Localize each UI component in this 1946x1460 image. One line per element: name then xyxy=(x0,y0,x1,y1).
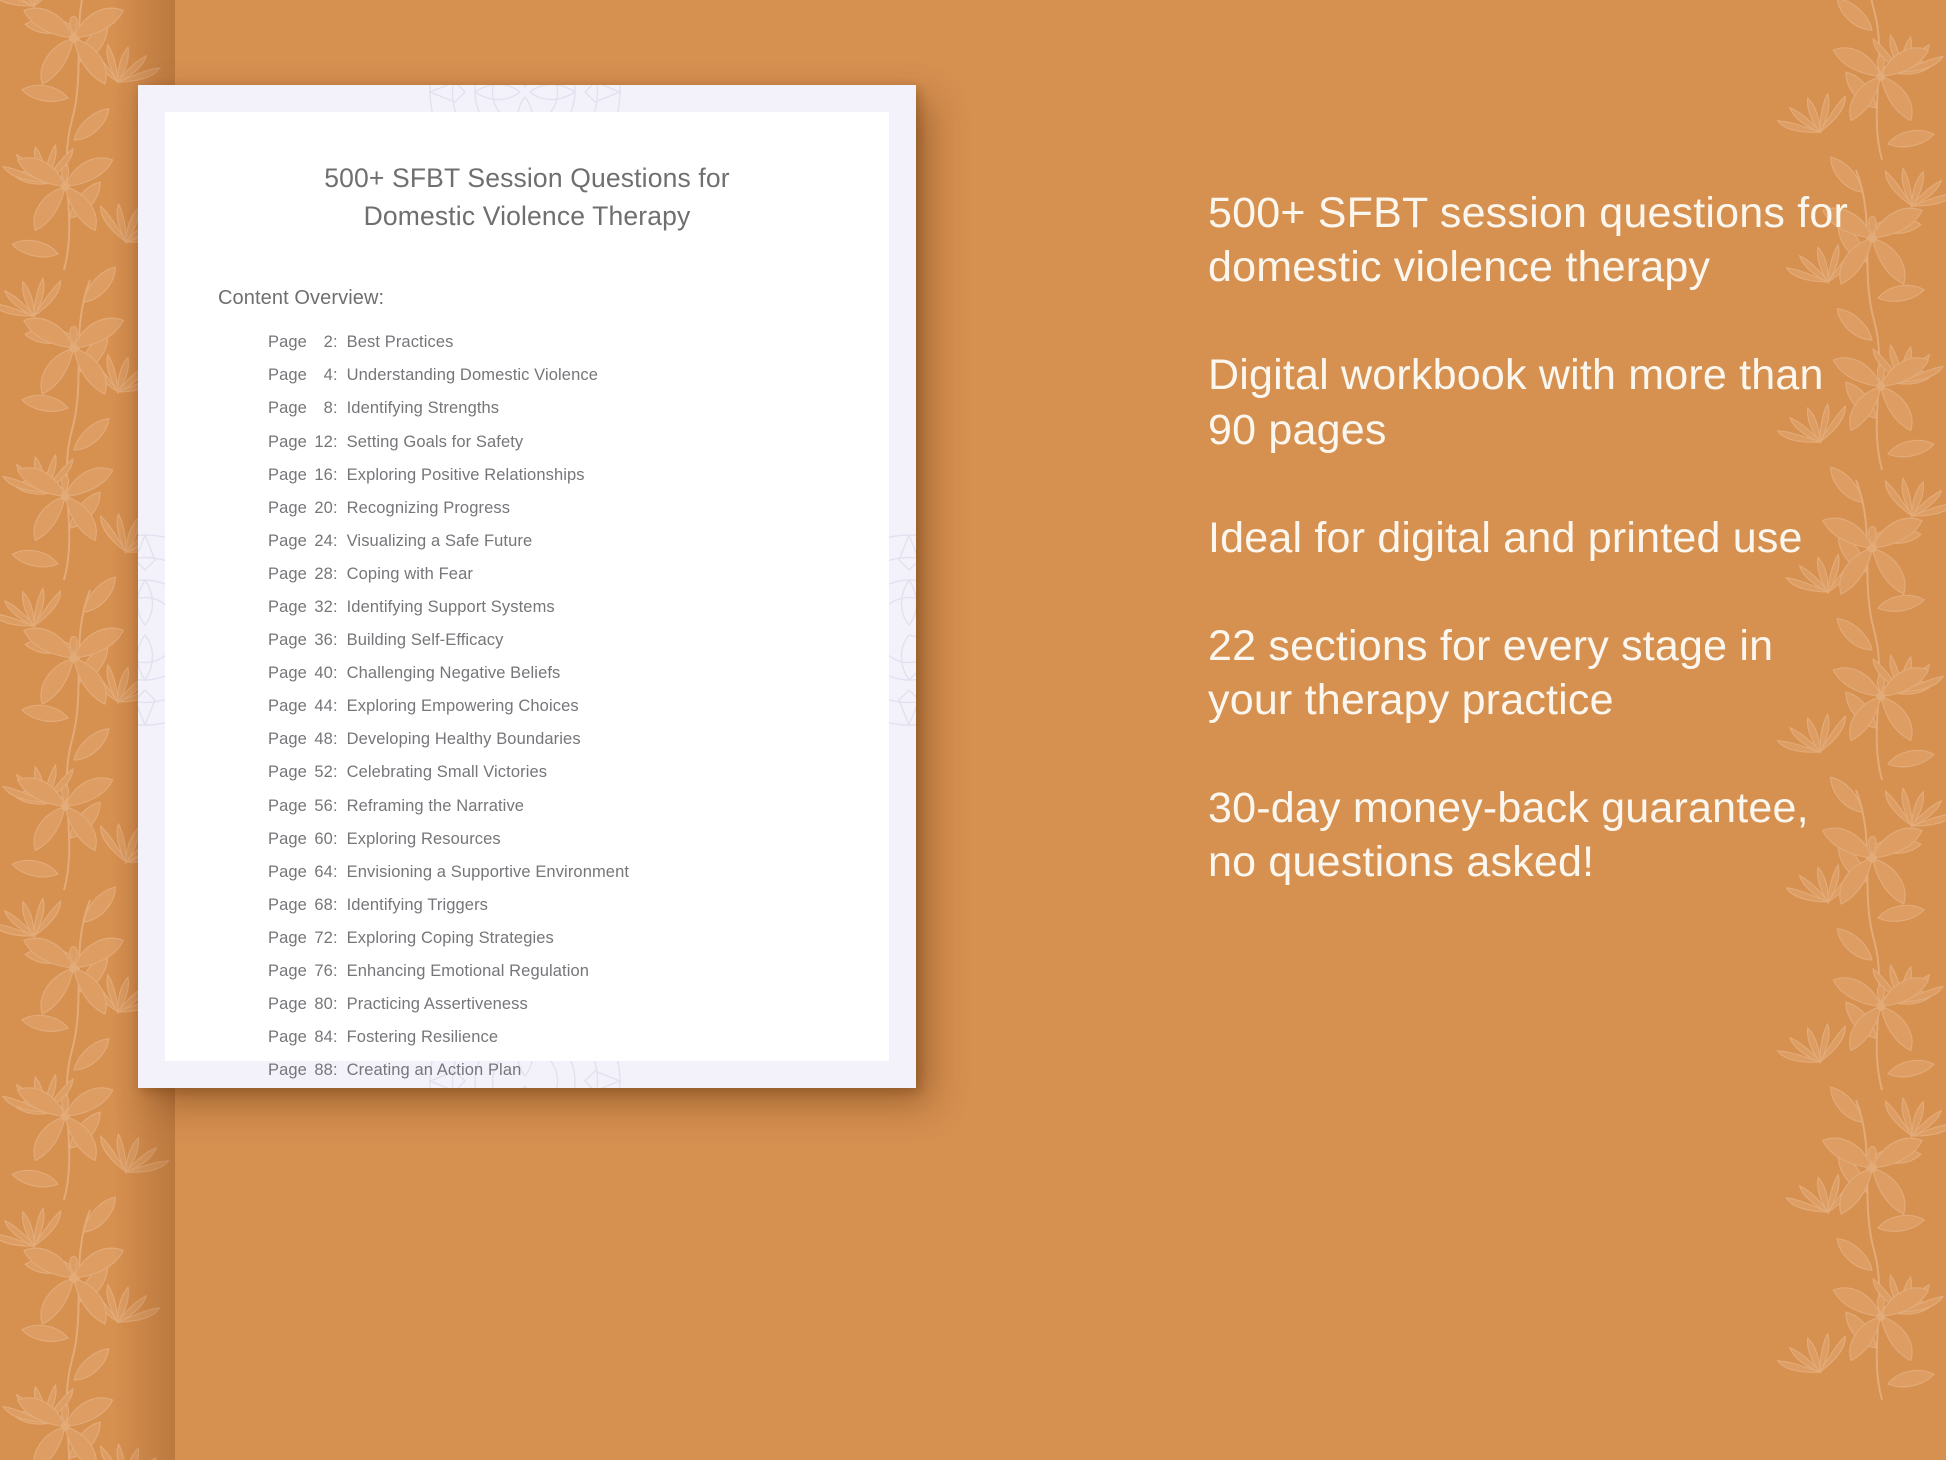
table-of-contents-item: Page4:Understanding Domestic Violence xyxy=(268,367,849,384)
toc-page-number: 36 xyxy=(311,632,333,649)
toc-colon: : xyxy=(333,533,338,550)
marketing-block: Digital workbook with more than 90 pages xyxy=(1208,348,1848,456)
toc-page-word: Page xyxy=(268,632,307,649)
toc-page-word: Page xyxy=(268,930,307,947)
toc-page-number: 12 xyxy=(311,434,333,451)
toc-section-title: Exploring Positive Relationships xyxy=(347,467,585,484)
toc-page-number: 44 xyxy=(311,698,333,715)
marketing-block: 22 sections for every stage in your ther… xyxy=(1208,619,1848,727)
toc-page-word: Page xyxy=(268,400,307,417)
table-of-contents-item: Page40:Challenging Negative Beliefs xyxy=(268,665,849,682)
toc-page-word: Page xyxy=(268,864,307,881)
toc-page-word: Page xyxy=(268,334,307,351)
toc-colon: : xyxy=(333,334,338,351)
toc-page-number: 88 xyxy=(311,1062,333,1079)
toc-page-word: Page xyxy=(268,599,307,616)
toc-colon: : xyxy=(333,632,338,649)
table-of-contents-item: Page48:Developing Healthy Boundaries xyxy=(268,731,849,748)
document-preview-card: 500+ SFBT Session Questions for Domestic… xyxy=(138,85,916,1088)
toc-colon: : xyxy=(333,864,338,881)
table-of-contents-item: Page24:Visualizing a Safe Future xyxy=(268,533,849,550)
toc-section-title: Developing Healthy Boundaries xyxy=(347,731,581,748)
page-title: 500+ SFBT Session Questions for Domestic… xyxy=(247,160,807,235)
toc-page-word: Page xyxy=(268,1029,307,1046)
toc-page-number: 76 xyxy=(311,963,333,980)
toc-page-word: Page xyxy=(268,566,307,583)
toc-page-number: 84 xyxy=(311,1029,333,1046)
marketing-block: 500+ SFBT session questions for domestic… xyxy=(1208,186,1848,294)
marketing-block: 30-day money-back guarantee, no question… xyxy=(1208,781,1848,889)
table-of-contents-item: Page52:Celebrating Small Victories xyxy=(268,764,849,781)
page-title-line-1: 500+ SFBT Session Questions for xyxy=(324,163,730,193)
toc-page-number: 72 xyxy=(311,930,333,947)
table-of-contents-item: Page8:Identifying Strengths xyxy=(268,400,849,417)
toc-section-title: Coping with Fear xyxy=(347,566,473,583)
page-title-line-2: Domestic Violence Therapy xyxy=(364,201,691,231)
toc-colon: : xyxy=(333,831,338,848)
toc-page-number: 16 xyxy=(311,467,333,484)
toc-page-number: 56 xyxy=(311,798,333,815)
toc-colon: : xyxy=(333,930,338,947)
toc-colon: : xyxy=(333,367,338,384)
toc-colon: : xyxy=(333,764,338,781)
toc-page-word: Page xyxy=(268,963,307,980)
toc-page-word: Page xyxy=(268,831,307,848)
table-of-contents-item: Page76:Enhancing Emotional Regulation xyxy=(268,963,849,980)
toc-page-number: 48 xyxy=(311,731,333,748)
toc-section-title: Visualizing a Safe Future xyxy=(347,533,533,550)
table-of-contents-item: Page16:Exploring Positive Relationships xyxy=(268,467,849,484)
toc-colon: : xyxy=(333,731,338,748)
toc-page-number: 4 xyxy=(311,367,333,384)
toc-section-title: Practicing Assertiveness xyxy=(347,996,528,1013)
toc-page-word: Page xyxy=(268,731,307,748)
toc-section-title: Challenging Negative Beliefs xyxy=(347,665,561,682)
toc-section-title: Setting Goals for Safety xyxy=(347,434,524,451)
toc-page-word: Page xyxy=(268,500,307,517)
toc-section-title: Building Self-Efficacy xyxy=(347,632,504,649)
toc-page-number: 64 xyxy=(311,864,333,881)
toc-colon: : xyxy=(333,500,338,517)
table-of-contents-list: Page2:Best PracticesPage4:Understanding … xyxy=(268,334,849,1088)
table-of-contents-item: Page88:Creating an Action Plan xyxy=(268,1062,849,1079)
table-of-contents-item: Page72:Exploring Coping Strategies xyxy=(268,930,849,947)
toc-section-title: Fostering Resilience xyxy=(347,1029,498,1046)
toc-page-word: Page xyxy=(268,367,307,384)
marketing-copy: 500+ SFBT session questions for domestic… xyxy=(1208,186,1848,890)
toc-colon: : xyxy=(333,963,338,980)
toc-page-number: 2 xyxy=(311,334,333,351)
toc-colon: : xyxy=(333,897,338,914)
toc-page-word: Page xyxy=(268,1062,307,1079)
table-of-contents-item: Page80:Practicing Assertiveness xyxy=(268,996,849,1013)
toc-page-number: 40 xyxy=(311,665,333,682)
toc-section-title: Recognizing Progress xyxy=(347,500,510,517)
toc-colon: : xyxy=(333,698,338,715)
table-of-contents-item: Page64:Envisioning a Supportive Environm… xyxy=(268,864,849,881)
toc-page-number: 20 xyxy=(311,500,333,517)
toc-section-title: Exploring Resources xyxy=(347,831,501,848)
table-of-contents-item: Page44:Exploring Empowering Choices xyxy=(268,698,849,715)
toc-page-number: 52 xyxy=(311,764,333,781)
toc-colon: : xyxy=(333,400,338,417)
document-page: 500+ SFBT Session Questions for Domestic… xyxy=(165,112,889,1061)
toc-section-title: Reframing the Narrative xyxy=(347,798,524,815)
table-of-contents-item: Page56:Reframing the Narrative xyxy=(268,798,849,815)
table-of-contents-item: Page20:Recognizing Progress xyxy=(268,500,849,517)
toc-page-number: 8 xyxy=(311,400,333,417)
toc-page-number: 32 xyxy=(311,599,333,616)
toc-section-title: Enhancing Emotional Regulation xyxy=(347,963,589,980)
toc-page-word: Page xyxy=(268,764,307,781)
toc-section-title: Creating an Action Plan xyxy=(347,1062,522,1079)
toc-page-word: Page xyxy=(268,798,307,815)
toc-section-title: Best Practices xyxy=(347,334,454,351)
table-of-contents-item: Page28:Coping with Fear xyxy=(268,566,849,583)
table-of-contents-item: Page36:Building Self-Efficacy xyxy=(268,632,849,649)
toc-colon: : xyxy=(333,467,338,484)
toc-page-number: 24 xyxy=(311,533,333,550)
toc-colon: : xyxy=(333,599,338,616)
toc-section-title: Exploring Empowering Choices xyxy=(347,698,579,715)
toc-colon: : xyxy=(333,798,338,815)
toc-section-title: Understanding Domestic Violence xyxy=(347,367,598,384)
toc-page-word: Page xyxy=(268,665,307,682)
toc-colon: : xyxy=(333,996,338,1013)
toc-colon: : xyxy=(333,665,338,682)
marketing-block: Ideal for digital and printed use xyxy=(1208,511,1848,565)
toc-section-title: Identifying Strengths xyxy=(347,400,500,417)
toc-page-word: Page xyxy=(268,533,307,550)
toc-page-word: Page xyxy=(268,698,307,715)
toc-colon: : xyxy=(333,1029,338,1046)
toc-colon: : xyxy=(333,566,338,583)
toc-page-word: Page xyxy=(268,897,307,914)
toc-page-word: Page xyxy=(268,434,307,451)
toc-colon: : xyxy=(333,1062,338,1079)
table-of-contents-item: Page60:Exploring Resources xyxy=(268,831,849,848)
table-of-contents-item: Page12:Setting Goals for Safety xyxy=(268,434,849,451)
toc-section-title: Celebrating Small Victories xyxy=(347,764,547,781)
toc-section-title: Envisioning a Supportive Environment xyxy=(347,864,629,881)
toc-page-number: 80 xyxy=(311,996,333,1013)
content-overview-heading: Content Overview: xyxy=(218,287,849,310)
toc-page-number: 68 xyxy=(311,897,333,914)
toc-section-title: Identifying Triggers xyxy=(347,897,488,914)
toc-colon: : xyxy=(333,434,338,451)
table-of-contents-item: Page84:Fostering Resilience xyxy=(268,1029,849,1046)
table-of-contents-item: Page32:Identifying Support Systems xyxy=(268,599,849,616)
toc-page-word: Page xyxy=(268,996,307,1013)
toc-section-title: Exploring Coping Strategies xyxy=(347,930,554,947)
toc-section-title: Identifying Support Systems xyxy=(347,599,555,616)
toc-page-number: 60 xyxy=(311,831,333,848)
table-of-contents-item: Page68:Identifying Triggers xyxy=(268,897,849,914)
toc-page-number: 28 xyxy=(311,566,333,583)
toc-page-word: Page xyxy=(268,467,307,484)
table-of-contents-item: Page2:Best Practices xyxy=(268,334,849,351)
